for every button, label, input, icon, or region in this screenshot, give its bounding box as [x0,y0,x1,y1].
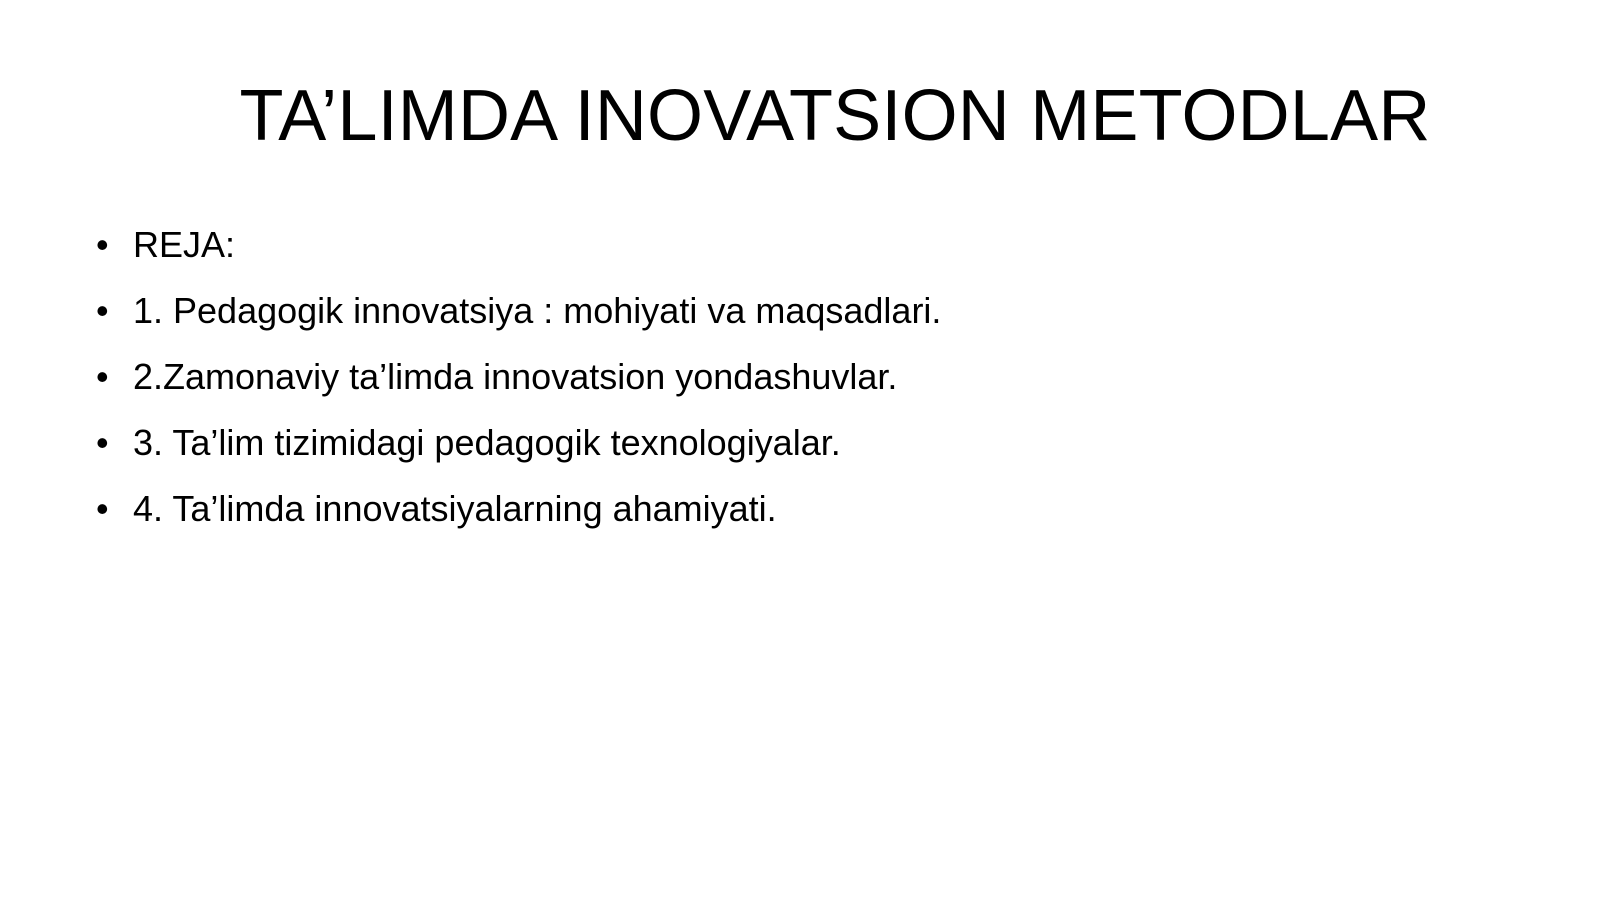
presentation-slide: TA’LIMDA INOVATSION METODLAR • REJA: • 1… [0,0,1600,899]
bullet-point-icon: • [96,410,133,476]
list-item: • 4. Ta’limda innovatsiyalarning ahamiya… [96,476,1516,542]
slide-bullet-list: • REJA: • 1. Pedagogik innovatsiya : moh… [96,212,1516,542]
list-item-label: REJA: [133,212,235,278]
list-item: • 2.Zamonaviy ta’limda innovatsion yonda… [96,344,1516,410]
list-item: • 1. Pedagogik innovatsiya : mohiyati va… [96,278,1516,344]
bullet-point-icon: • [96,212,133,278]
bullet-point-icon: • [96,344,133,410]
list-item-label: 4. Ta’limda innovatsiyalarning ahamiyati… [133,476,777,542]
list-item: • REJA: [96,212,1516,278]
page-title: TA’LIMDA INOVATSION METODLAR [80,78,1590,156]
list-item: • 3. Ta’lim tizimidagi pedagogik texnolo… [96,410,1516,476]
list-item-label: 2.Zamonaviy ta’limda innovatsion yondash… [133,344,897,410]
list-item-label: 1. Pedagogik innovatsiya : mohiyati va m… [133,278,941,344]
list-item-label: 3. Ta’lim tizimidagi pedagogik texnologi… [133,410,841,476]
bullet-point-icon: • [96,476,133,542]
bullet-point-icon: • [96,278,133,344]
